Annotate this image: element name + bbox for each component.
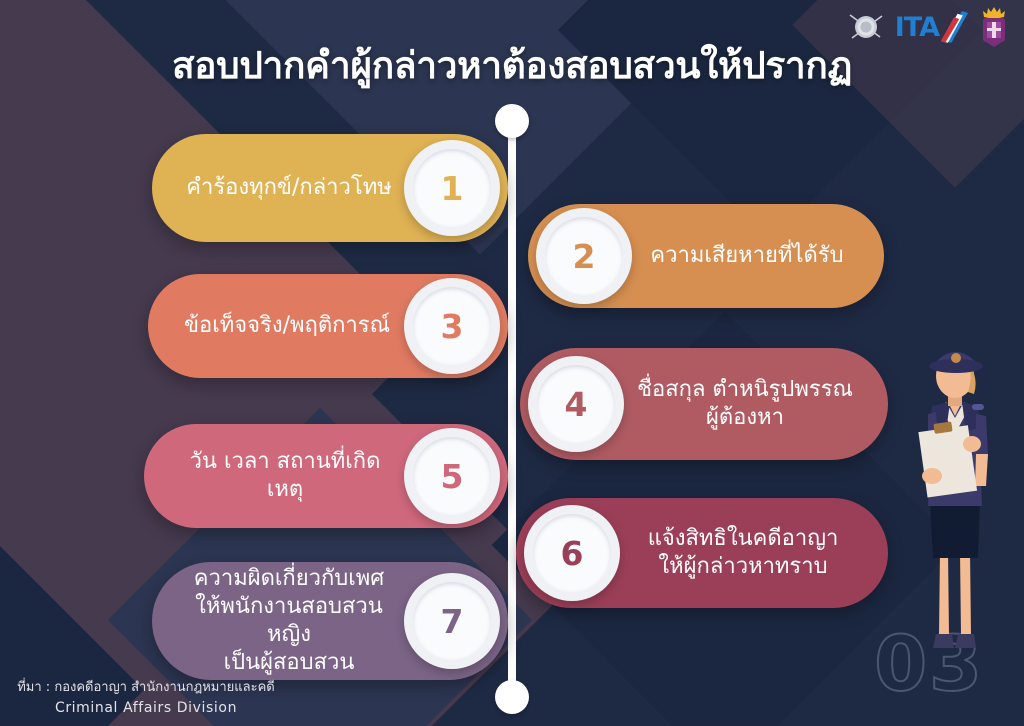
timeline-item-number: 7	[441, 602, 464, 641]
timeline-item-line: วัน เวลา สถานที่เกิดเหตุ	[172, 448, 398, 504]
timeline-item-number-badge: 7	[404, 573, 500, 669]
timeline-item-number: 1	[441, 169, 464, 208]
timeline-item-line: ชื่อสกุล ตำหนิรูปพรรณ	[630, 376, 860, 404]
timeline-line	[508, 120, 516, 698]
footer-source-thai: ที่มา : กองคดีอาญา สำนักงานกฎหมายและคดี	[8, 679, 284, 698]
female-police-officer-illustration	[888, 336, 1018, 666]
logo-group: ITA	[846, 6, 1010, 48]
timeline-item-number-badge: 5	[404, 428, 500, 524]
timeline-item-number: 2	[573, 237, 596, 276]
timeline-item-number-badge: 1	[404, 140, 500, 236]
timeline-item-label: คำร้องทุกข์/กล่าวโทษ	[180, 174, 404, 202]
timeline-item-5[interactable]: วัน เวลา สถานที่เกิดเหตุ5	[144, 424, 508, 528]
timeline-cap-bottom	[495, 680, 529, 714]
timeline-item-line: ข้อเท็จจริง/พฤติการณ์	[176, 312, 398, 340]
timeline-item-line: ความเสียหายที่ได้รับ	[638, 242, 856, 270]
timeline-item-6[interactable]: 6แจ้งสิทธิในคดีอาญาให้ผู้กล่าวหาทราบ	[516, 498, 888, 608]
timeline-item-line: ความผิดเกี่ยวกับเพศ	[180, 565, 398, 593]
timeline-item-number: 4	[565, 385, 588, 424]
timeline-item-line: ให้พนักงานสอบสวนหญิง	[180, 593, 398, 649]
timeline-item-line: ให้ผู้กล่าวหาทราบ	[626, 553, 860, 581]
timeline-item-2[interactable]: 2ความเสียหายที่ได้รับ	[528, 204, 884, 308]
timeline-item-label: ชื่อสกุล ตำหนิรูปพรรณผู้ต้องหา	[624, 376, 860, 432]
timeline-cap-top	[495, 104, 529, 138]
timeline-item-label: ข้อเท็จจริง/พฤติการณ์	[176, 312, 404, 340]
timeline-item-number: 5	[441, 457, 464, 496]
timeline-item-label: วัน เวลา สถานที่เกิดเหตุ	[172, 448, 404, 504]
timeline-item-number-badge: 3	[404, 278, 500, 374]
timeline-item-number-badge: 2	[536, 208, 632, 304]
silver-medallion-logo-icon	[846, 7, 886, 47]
ita-logo: ITA	[895, 8, 969, 46]
timeline-item-line: เป็นผู้สอบสวน	[180, 649, 398, 677]
timeline-item-line: แจ้งสิทธิในคดีอาญา	[626, 525, 860, 553]
thai-royal-emblem-logo-icon	[978, 6, 1010, 48]
timeline-item-number-badge: 6	[524, 505, 620, 601]
page-title: สอบปากคำผู้กล่าวหาต้องสอบสวนให้ปรากฏ	[0, 46, 1024, 87]
timeline-item-3[interactable]: ข้อเท็จจริง/พฤติการณ์3	[148, 274, 508, 378]
timeline-item-7[interactable]: ความผิดเกี่ยวกับเพศให้พนักงานสอบสวนหญิงเ…	[152, 562, 508, 680]
footer-source-english: Criminal Affairs Division	[8, 698, 284, 718]
timeline-item-label: แจ้งสิทธิในคดีอาญาให้ผู้กล่าวหาทราบ	[620, 525, 860, 581]
timeline-item-number: 6	[561, 534, 584, 573]
footer-source: ที่มา : กองคดีอาญา สำนักงานกฎหมายและคดี …	[8, 679, 284, 718]
timeline-item-4[interactable]: 4ชื่อสกุล ตำหนิรูปพรรณผู้ต้องหา	[520, 348, 888, 460]
timeline-item-number: 3	[441, 307, 464, 346]
timeline-item-line: คำร้องทุกข์/กล่าวโทษ	[180, 174, 398, 202]
timeline-item-label: ความเสียหายที่ได้รับ	[632, 242, 856, 270]
timeline-item-1[interactable]: คำร้องทุกข์/กล่าวโทษ1	[152, 134, 508, 242]
timeline-item-number-badge: 4	[528, 356, 624, 452]
ita-flag-swoosh-icon	[939, 8, 969, 46]
timeline-item-line: ผู้ต้องหา	[630, 404, 860, 432]
ita-logo-label: ITA	[895, 12, 939, 43]
infographic-slide: ITA สอบปากคำผู้กล่าวหาต้องสอบสวนให้ปรากฏ	[0, 0, 1024, 726]
timeline-item-label: ความผิดเกี่ยวกับเพศให้พนักงานสอบสวนหญิงเ…	[180, 565, 404, 678]
